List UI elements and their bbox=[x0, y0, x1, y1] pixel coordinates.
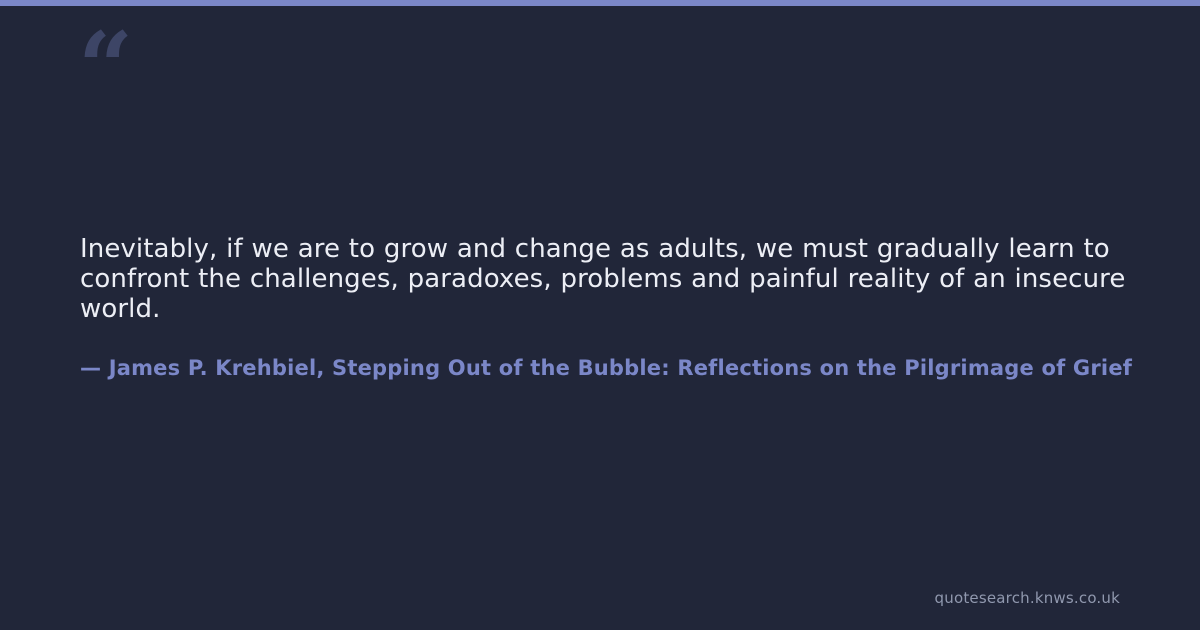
content-area: “ Inevitably, if we are to grow and chan… bbox=[0, 6, 1200, 630]
attribution-source: James P. Krehbiel, Stepping Out of the B… bbox=[109, 356, 1132, 380]
quote-body: Inevitably, if we are to grow and change… bbox=[80, 234, 1150, 324]
open-quote-icon: “ bbox=[78, 20, 131, 116]
quote-text: Inevitably, if we are to grow and change… bbox=[80, 234, 1150, 324]
quote-attribution: — James P. Krehbiel, Stepping Out of the… bbox=[80, 354, 1200, 382]
attribution-dash: — bbox=[80, 356, 109, 380]
site-footer: quotesearch.knws.co.uk bbox=[935, 588, 1120, 608]
site-url-label: quotesearch.knws.co.uk bbox=[935, 589, 1120, 607]
quote-card: “ Inevitably, if we are to grow and chan… bbox=[0, 0, 1200, 630]
